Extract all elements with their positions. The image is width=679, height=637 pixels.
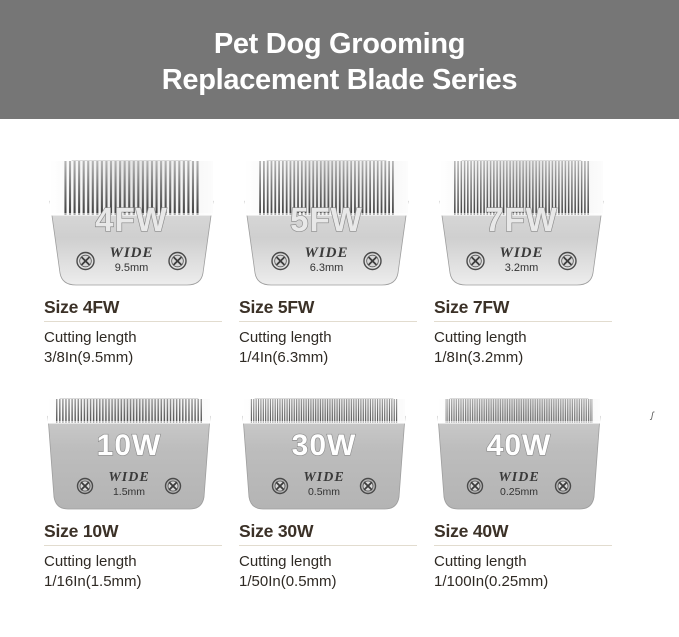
- svg-text:WIDE: WIDE: [499, 245, 543, 261]
- blade-image-40w: 40W WIDE 0.25mm: [434, 388, 629, 513]
- svg-text:4FW: 4FW: [95, 201, 168, 238]
- svg-text:5FW: 5FW: [290, 201, 363, 238]
- product-size-title: Size 30W: [239, 521, 417, 542]
- divider: [239, 545, 417, 546]
- svg-text:3.2mm: 3.2mm: [505, 262, 539, 274]
- svg-text:40W: 40W: [487, 429, 552, 462]
- product-card-30w[interactable]: 30W WIDE 0.5mm Size 30WCutting length1/5…: [239, 388, 434, 592]
- cutting-length-value: 1/4In(6.3mm): [239, 348, 417, 368]
- cutting-length-label: Cutting length: [434, 552, 612, 572]
- svg-text:WIDE: WIDE: [108, 470, 149, 485]
- product-size-title: Size 10W: [44, 521, 222, 542]
- product-card-4fw[interactable]: 4FW WIDE 9.5mm Size 4FWCutting length3/8…: [44, 149, 239, 368]
- divider: [239, 321, 417, 322]
- blade-graphic: 40W WIDE 0.25mm: [434, 393, 604, 513]
- product-info: Size 7FWCutting length1/8In(3.2mm): [434, 289, 612, 368]
- blade-graphic: 10W WIDE 1.5mm: [44, 393, 214, 513]
- svg-text:0.25mm: 0.25mm: [500, 486, 538, 498]
- svg-text:30W: 30W: [292, 429, 357, 462]
- svg-text:6.3mm: 6.3mm: [310, 262, 344, 274]
- page-title-line-1: Pet Dog Grooming: [214, 26, 465, 62]
- blade-graphic: 5FW WIDE 6.3mm: [239, 153, 414, 289]
- blade-image-5fw: 5FW WIDE 6.3mm: [239, 149, 434, 289]
- blade-image-7fw: 7FW WIDE 3.2mm: [434, 149, 629, 289]
- cutting-length-label: Cutting length: [239, 328, 417, 348]
- product-card-10w[interactable]: 10W WIDE 1.5mm Size 10WCutting length1/1…: [44, 388, 239, 592]
- product-grid: 4FW WIDE 9.5mm Size 4FWCutting length3/8…: [0, 119, 679, 592]
- svg-text:1.5mm: 1.5mm: [113, 486, 145, 498]
- blade-graphic: 4FW WIDE 9.5mm: [44, 153, 219, 289]
- product-card-7fw[interactable]: 7FW WIDE 3.2mm Size 7FWCutting length1/8…: [434, 149, 629, 368]
- product-info: Size 5FWCutting length1/4In(6.3mm): [239, 289, 417, 368]
- product-size-title: Size 40W: [434, 521, 612, 542]
- svg-text:WIDE: WIDE: [304, 245, 348, 261]
- product-info: Size 4FWCutting length3/8In(9.5mm): [44, 289, 222, 368]
- product-size-title: Size 4FW: [44, 297, 222, 318]
- svg-text:WIDE: WIDE: [109, 245, 153, 261]
- cutting-length-label: Cutting length: [44, 552, 222, 572]
- divider: [44, 321, 222, 322]
- svg-text:10W: 10W: [97, 429, 162, 462]
- cutting-length-value: 1/50In(0.5mm): [239, 572, 417, 592]
- blade-image-30w: 30W WIDE 0.5mm: [239, 388, 434, 513]
- product-row-2: 10W WIDE 1.5mm Size 10WCutting length1/1…: [0, 368, 679, 592]
- cutting-length-label: Cutting length: [239, 552, 417, 572]
- cutting-length-label: Cutting length: [44, 328, 222, 348]
- cutting-length-value: 1/16In(1.5mm): [44, 572, 222, 592]
- product-size-title: Size 7FW: [434, 297, 612, 318]
- product-size-title: Size 5FW: [239, 297, 417, 318]
- divider: [434, 545, 612, 546]
- blade-image-4fw: 4FW WIDE 9.5mm: [44, 149, 239, 289]
- divider: [434, 321, 612, 322]
- svg-text:WIDE: WIDE: [498, 470, 539, 485]
- scan-artifact-mark: ʃ: [651, 410, 654, 420]
- product-info: Size 30WCutting length1/50In(0.5mm): [239, 513, 417, 592]
- product-card-5fw[interactable]: 5FW WIDE 6.3mm Size 5FWCutting length1/4…: [239, 149, 434, 368]
- svg-text:9.5mm: 9.5mm: [115, 262, 149, 274]
- product-card-40w[interactable]: 40W WIDE 0.25mm Size 40WCutting length1/…: [434, 388, 629, 592]
- product-row-1: 4FW WIDE 9.5mm Size 4FWCutting length3/8…: [0, 119, 679, 368]
- cutting-length-label: Cutting length: [434, 328, 612, 348]
- cutting-length-value: 3/8In(9.5mm): [44, 348, 222, 368]
- svg-text:7FW: 7FW: [485, 201, 558, 238]
- cutting-length-value: 1/8In(3.2mm): [434, 348, 612, 368]
- product-info: Size 40WCutting length1/100In(0.25mm): [434, 513, 612, 592]
- blade-graphic: 30W WIDE 0.5mm: [239, 393, 409, 513]
- cutting-length-value: 1/100In(0.25mm): [434, 572, 612, 592]
- svg-text:WIDE: WIDE: [303, 470, 344, 485]
- blade-image-10w: 10W WIDE 1.5mm: [44, 388, 239, 513]
- svg-text:0.5mm: 0.5mm: [308, 486, 340, 498]
- blade-graphic: 7FW WIDE 3.2mm: [434, 153, 609, 289]
- divider: [44, 545, 222, 546]
- product-info: Size 10WCutting length1/16In(1.5mm): [44, 513, 222, 592]
- page-title-line-2: Replacement Blade Series: [162, 62, 517, 98]
- page-header: Pet Dog Grooming Replacement Blade Serie…: [0, 0, 679, 119]
